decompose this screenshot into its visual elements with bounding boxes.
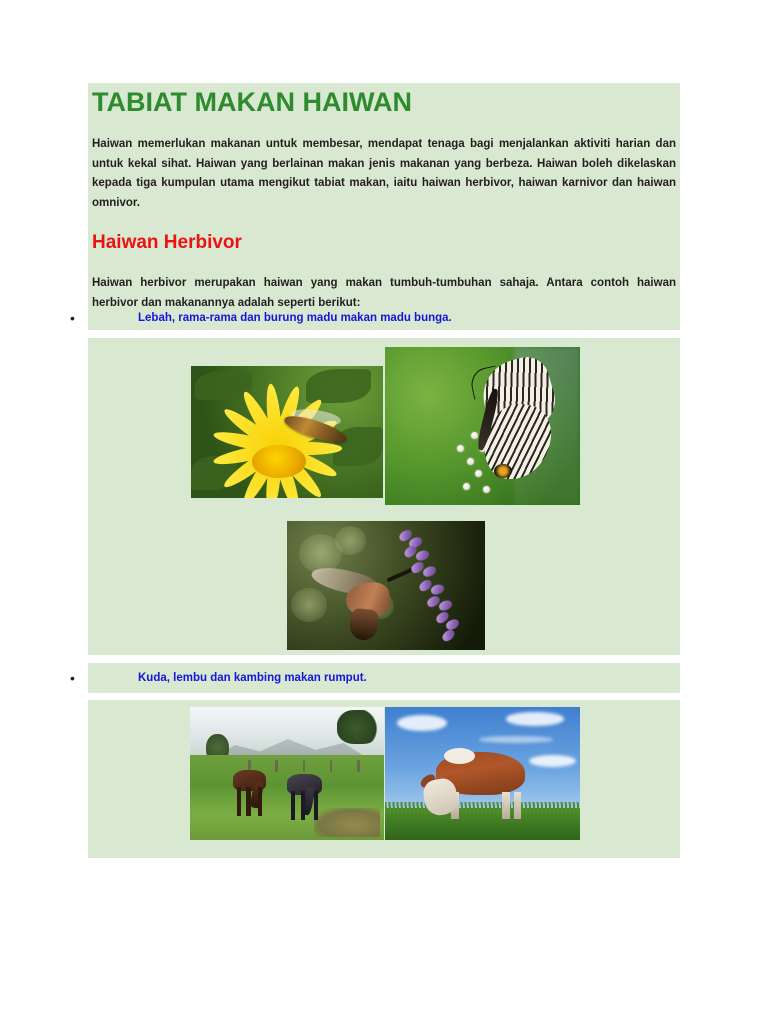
hummingbird-feeding-on-salvia-photo (287, 521, 485, 650)
title-word-two: MAKAN (195, 86, 296, 118)
horses-grazing-in-pasture-photo (190, 707, 384, 840)
document-page: TABIAT MAKAN HAIWAN Haiwan memerlukan ma… (0, 0, 768, 1024)
cow-grazing-on-grass-photo (385, 707, 580, 840)
title-word-three: HAIWAN (303, 86, 413, 118)
bullet-text-one: Lebah, rama-rama dan burung madu makan m… (138, 308, 452, 328)
bullet-marker-icon: • (70, 308, 80, 328)
bullet-text-two: Kuda, lembu dan kambing makan rumput. (138, 668, 367, 688)
bee-on-yellow-flower-photo (191, 366, 383, 498)
title-word-one: TABIAT (92, 86, 187, 118)
bullet-marker-icon: • (70, 668, 80, 688)
section-heading-herbivor: Haiwan Herbivor (92, 231, 242, 255)
page-title: TABIAT MAKAN HAIWAN (92, 86, 678, 118)
intro-paragraph: Haiwan memerlukan makanan untuk membesar… (92, 135, 676, 213)
content-band-images-two (88, 700, 680, 858)
swallowtail-butterfly-on-flower-photo (385, 347, 580, 505)
